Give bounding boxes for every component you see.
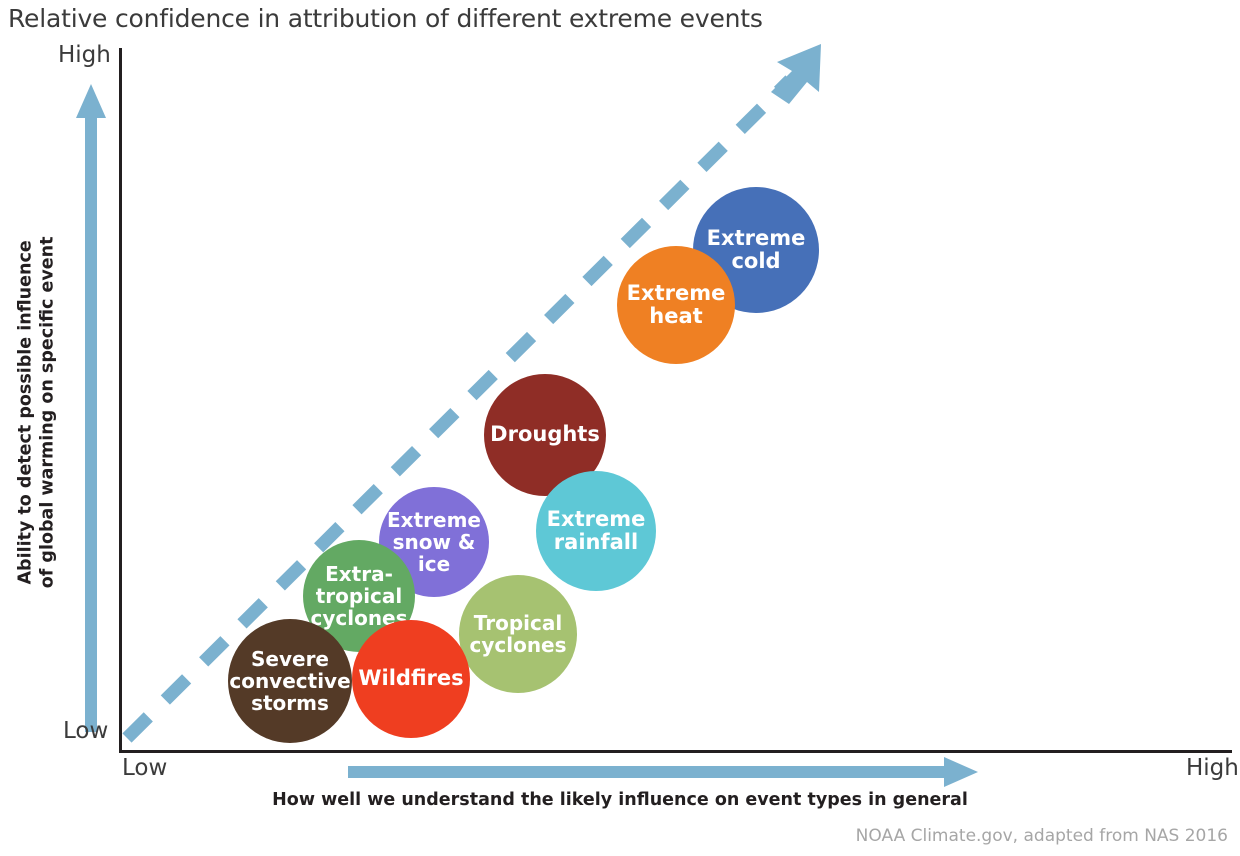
chart-canvas: Relative confidence in attribution of di…	[0, 0, 1240, 856]
bubble-tropical-cyclones[interactable]: Tropical cyclones	[459, 575, 577, 693]
bubble-label: Tropical cyclones	[459, 612, 577, 656]
x-axis-low-tick: Low	[122, 755, 167, 781]
y-axis-direction-arrow-icon	[76, 84, 106, 732]
y-axis-title-line2: of global warming on specific event	[37, 132, 59, 692]
x-axis-high-tick: High	[1186, 755, 1239, 781]
x-axis-title: How well we understand the likely influe…	[0, 790, 1240, 810]
y-axis-title-line1: Ability to detect possible influence	[15, 132, 37, 692]
bubble-label: Extra-tropical cyclones	[303, 563, 415, 629]
source-credit: NOAA Climate.gov, adapted from NAS 2016	[856, 826, 1228, 846]
y-axis-line	[119, 48, 122, 753]
bubble-label: Extreme rainfall	[536, 508, 656, 554]
bubble-wildfires[interactable]: Wildfires	[352, 620, 470, 738]
bubble-label: Severe convective storms	[225, 648, 354, 714]
bubble-layer: Extreme coldExtreme heatDroughtsExtreme …	[0, 0, 1240, 856]
x-axis-line	[119, 750, 1232, 753]
bubble-extreme-rainfall[interactable]: Extreme rainfall	[536, 471, 656, 591]
x-axis-direction-arrow-icon	[348, 757, 978, 787]
y-axis-title: Ability to detect possible influence of …	[15, 132, 60, 692]
bubble-label: Extreme heat	[617, 282, 735, 328]
y-axis-low-tick: Low	[63, 718, 108, 744]
bubble-extreme-heat[interactable]: Extreme heat	[617, 246, 735, 364]
bubble-label: Wildfires	[354, 667, 467, 690]
bubble-label: Droughts	[486, 423, 604, 446]
bubble-severe-convective-storms[interactable]: Severe convective storms	[228, 619, 352, 743]
y-axis-high-tick: High	[58, 42, 111, 68]
